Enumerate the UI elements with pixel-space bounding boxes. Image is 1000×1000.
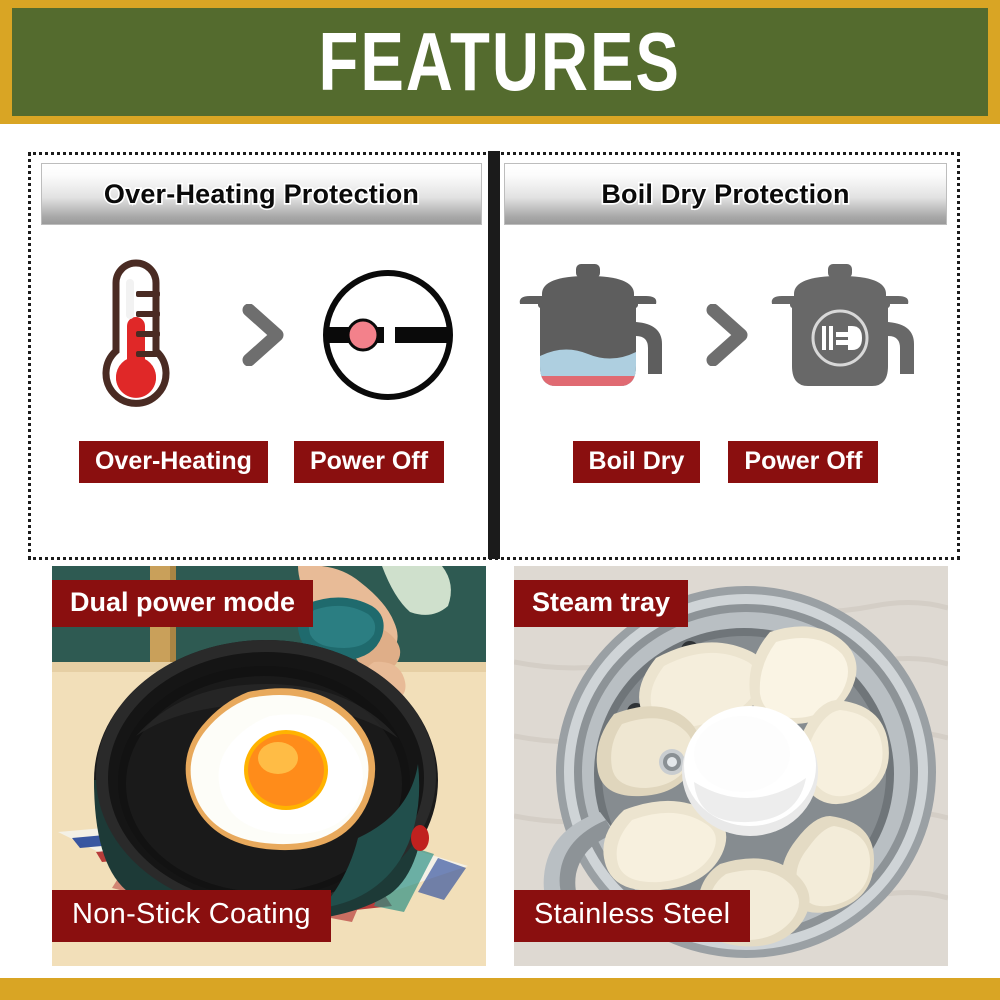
feature-labels-over-heating: Over-Heating Power Off [31,441,492,483]
feature-panel-boil-dry: Boil Dry Protection [494,155,957,557]
header-gold-frame: FEATURES [0,0,1000,124]
photo-tag-steam-tray: Steam tray [514,580,688,627]
feature-labels-boil-dry: Boil Dry Power Off [494,441,957,483]
photo-card-dual-power-mode: Dual power mode Non-Stick Coating [52,566,486,966]
photo-card-steam-tray: Steam tray Stainless Steel [514,566,948,966]
thermometer-icon [51,245,221,425]
footer-gold-bar [0,978,1000,1000]
feature-heading-text: Over-Heating Protection [104,179,419,210]
photo-gallery: Dual power mode Non-Stick Coating [0,566,1000,976]
page-title: FEATURES [319,21,681,104]
status-badge-over-heating: Over-Heating [79,441,268,483]
feature-heading-bar-boil-dry: Boil Dry Protection [504,163,947,225]
pot-unplugged-icon [767,245,937,425]
status-badge-power-off-left: Power Off [294,441,444,483]
feature-icon-row-boil-dry [494,235,957,435]
power-off-circle-icon [303,245,473,425]
photo-tag-dual-power-mode: Dual power mode [52,580,313,627]
photo-tag-stainless-steel: Stainless Steel [514,890,750,942]
header-green-band: FEATURES [12,8,988,116]
feature-heading-text: Boil Dry Protection [601,179,849,210]
status-badge-boil-dry: Boil Dry [573,441,701,483]
chevron-right-icon [227,304,297,366]
photo-tag-non-stick-coating: Non-Stick Coating [52,890,331,942]
features-panel: Over-Heating Protection [28,152,960,560]
feature-icon-row-over-heating [31,235,492,435]
panel-divider [488,151,500,559]
status-badge-power-off-right: Power Off [728,441,878,483]
feature-panel-over-heating: Over-Heating Protection [31,155,494,557]
chevron-right-icon [691,304,761,366]
feature-heading-bar-over-heating: Over-Heating Protection [41,163,482,225]
pot-with-water-icon [515,245,685,425]
